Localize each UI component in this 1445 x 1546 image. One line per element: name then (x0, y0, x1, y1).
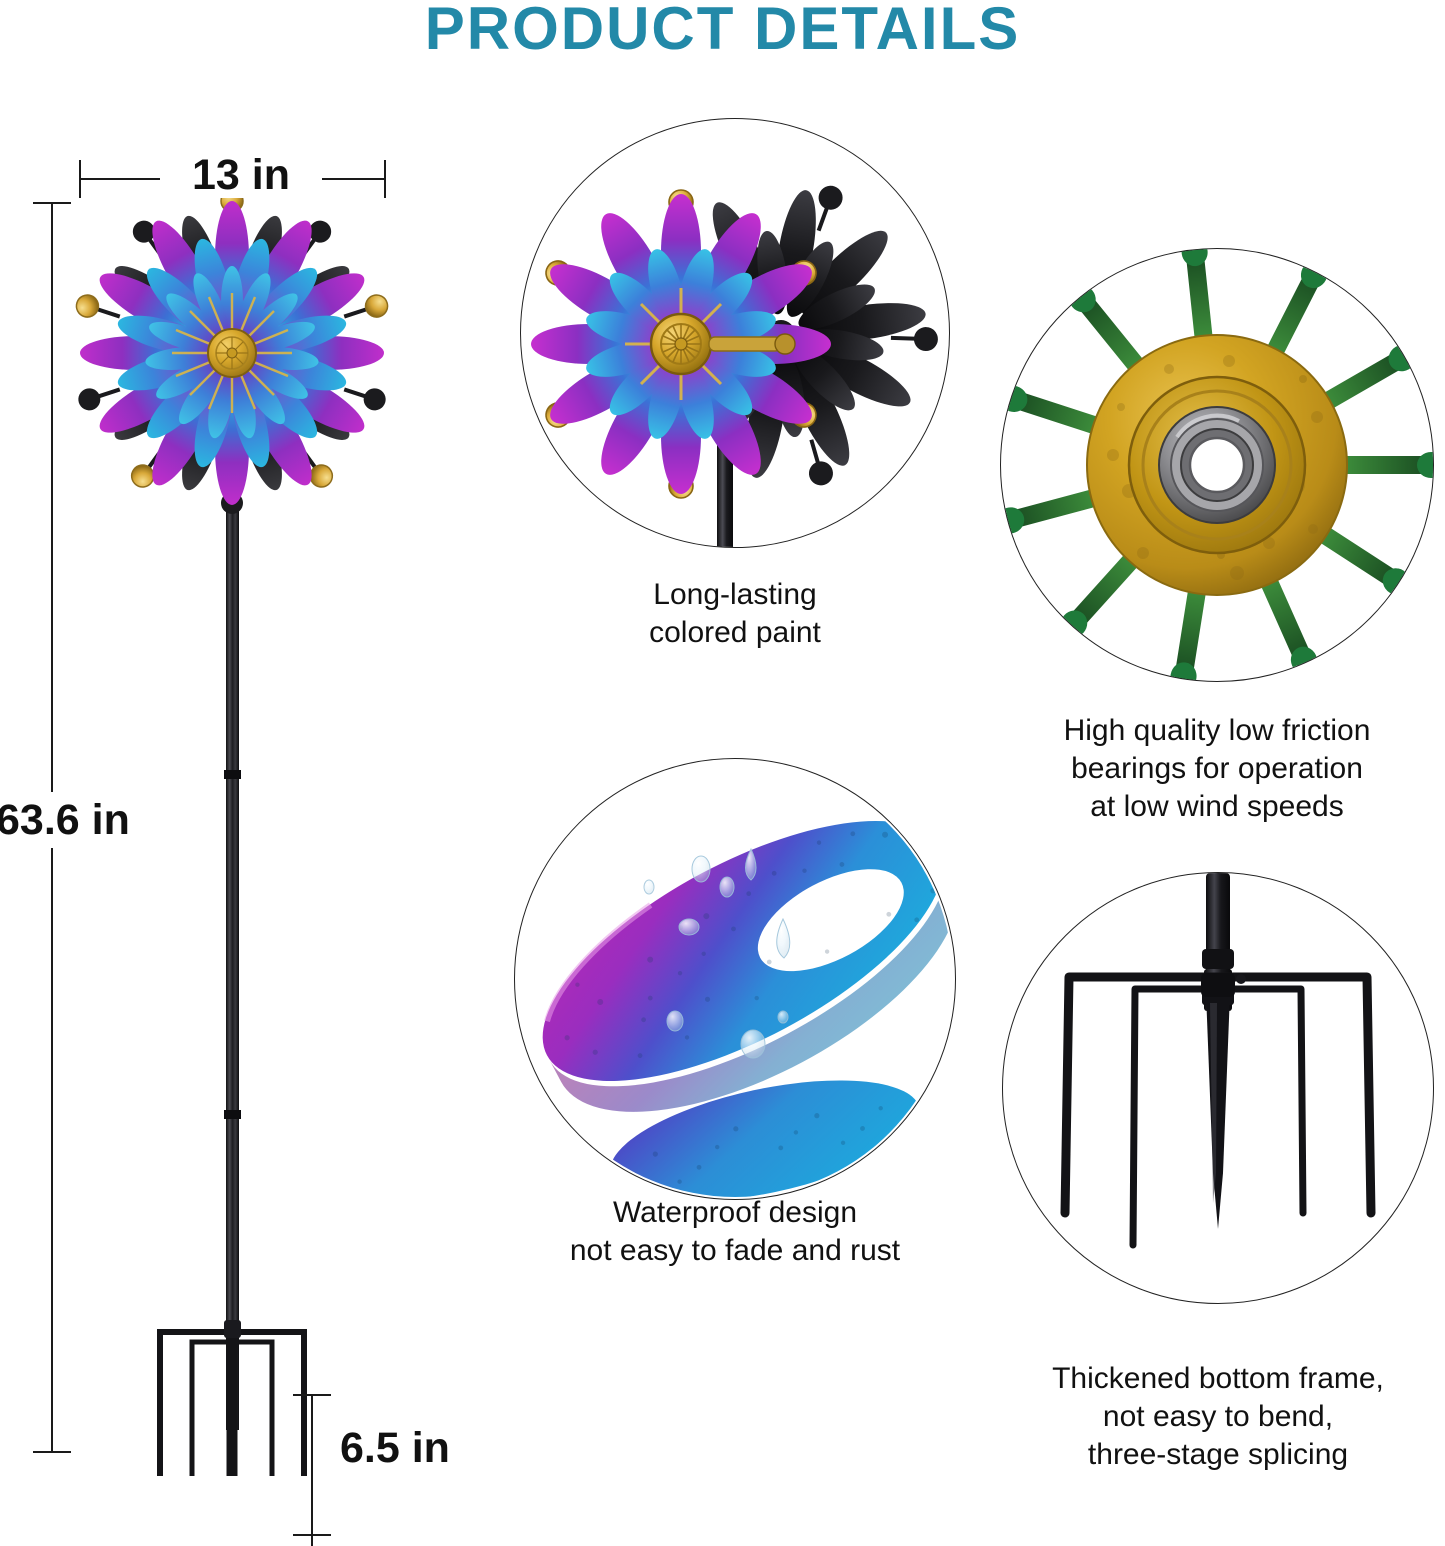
height-dimension-cap-top (33, 202, 71, 204)
caption-line: colored paint (560, 614, 910, 652)
width-dimension-cap-right (384, 160, 386, 198)
width-dimension-label: 13 in (160, 152, 322, 198)
detail-circle-colored-paint (520, 118, 950, 548)
wind-spinner-rotor-closeup-image (521, 119, 949, 547)
height-dimension-label: 63.6 in (0, 792, 144, 848)
wind-spinner-full-product (0, 70, 470, 1476)
caption-line: Long-lasting (560, 576, 910, 614)
height-dimension-cap-bottom (33, 1451, 71, 1453)
caption-line: High quality low friction (1010, 712, 1424, 750)
petal-with-water-droplets-image (515, 759, 955, 1199)
detail-circle-bearings (1000, 248, 1434, 682)
page-title: PRODUCT DETAILS (0, 0, 1445, 63)
stake-dimension-cap-top (293, 1394, 331, 1396)
product-hero-diagram: 13 in 63.6 in 6.5 in (0, 70, 470, 1476)
caption-waterproof: Waterproof design not easy to fade and r… (500, 1194, 970, 1270)
width-dimension-cap-left (79, 160, 81, 198)
caption-line: not easy to bend, (1000, 1398, 1436, 1436)
caption-line: three-stage splicing (1000, 1436, 1436, 1474)
caption-line: Thickened bottom frame, (1000, 1360, 1436, 1398)
caption-line: not easy to fade and rust (500, 1232, 970, 1270)
stake-dimension-label: 6.5 in (340, 1422, 500, 1474)
caption-line: at low wind speeds (1010, 788, 1424, 826)
stake-dimension-line (311, 1395, 313, 1546)
caption-bearings: High quality low friction bearings for o… (1010, 712, 1424, 826)
detail-circle-waterproof (514, 758, 956, 1200)
brass-hub-bearing-closeup-image (1001, 249, 1433, 681)
caption-line: Waterproof design (500, 1194, 970, 1232)
detail-circle-bottom-frame (1002, 872, 1434, 1304)
caption-line: bearings for operation (1010, 750, 1424, 788)
caption-colored-paint: Long-lasting colored paint (560, 576, 910, 652)
five-prong-ground-stake-image (1003, 873, 1433, 1303)
stake-dimension-cap-bottom (293, 1534, 331, 1536)
caption-bottom-frame: Thickened bottom frame, not easy to bend… (1000, 1360, 1436, 1474)
